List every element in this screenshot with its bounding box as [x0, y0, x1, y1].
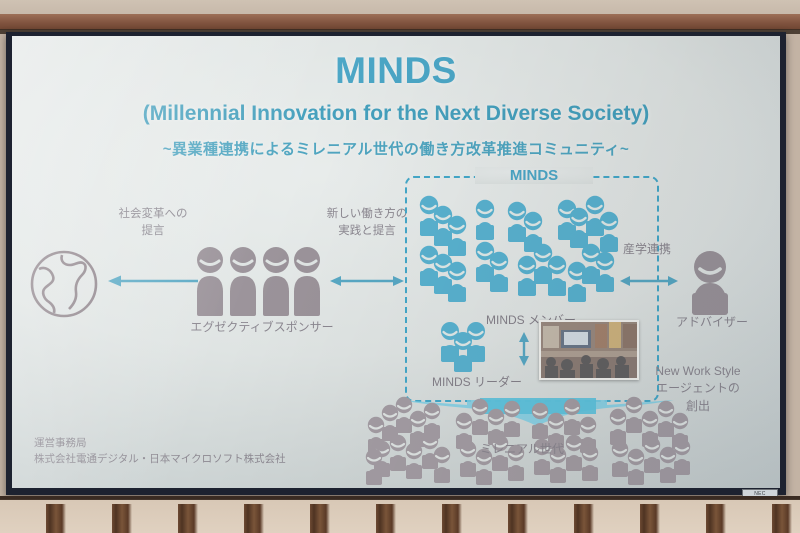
- slide-subtitle-jp: ~異業種連携によるミレニアル世代の働き方改革推進コミュニティ~: [12, 138, 780, 159]
- globe-icon: [29, 249, 99, 319]
- outcome-line1: New Work Style: [624, 363, 772, 380]
- center-double-arrow: [330, 274, 404, 288]
- executive-sponsor-label: エグゼクティブスポンサー: [162, 319, 362, 336]
- wall-trim-top: [0, 14, 800, 30]
- minds-box-label: MINDS: [475, 167, 593, 184]
- page-title: MINDS: [12, 50, 780, 92]
- footer-line1: 運営事務局: [34, 436, 286, 452]
- slide-footer: 運営事務局 株式会社電通デジタル・日本マイクロソフト株式会社: [34, 436, 286, 468]
- minds-leader-icons: [437, 321, 507, 369]
- social-change-label-line2: 提言: [78, 223, 228, 240]
- advisor-double-arrow: [620, 274, 678, 288]
- advisor-label: アドバイザー: [652, 314, 772, 331]
- executive-sponsor-icons: [194, 244, 322, 316]
- social-change-label-line1: 社会変革への: [78, 206, 228, 223]
- industry-academia-label: 産学連携: [602, 241, 692, 258]
- slide-subtitle: (Millennial Innovation for the Next Dive…: [12, 102, 780, 126]
- presentation-slide: MINDS (Millennial Innovation for the Nex…: [12, 36, 780, 488]
- millennial-crowd-icons: [362, 386, 692, 486]
- wall-wood-slats: [0, 504, 800, 533]
- projection-screen: MINDS (Millennial Innovation for the Nex…: [12, 36, 780, 488]
- footer-line2: 株式会社電通デジタル・日本マイクロソフト株式会社: [34, 452, 286, 468]
- members-leader-arrow: [517, 332, 531, 366]
- social-change-label: 社会変革への 提言: [78, 206, 228, 239]
- left-arrow: [108, 274, 200, 288]
- advisor-icon: [688, 249, 732, 315]
- millennial-generation-label: ミレニアル世代: [452, 440, 592, 457]
- conference-room-photo: MINDS (Millennial Innovation for the Nex…: [0, 0, 800, 533]
